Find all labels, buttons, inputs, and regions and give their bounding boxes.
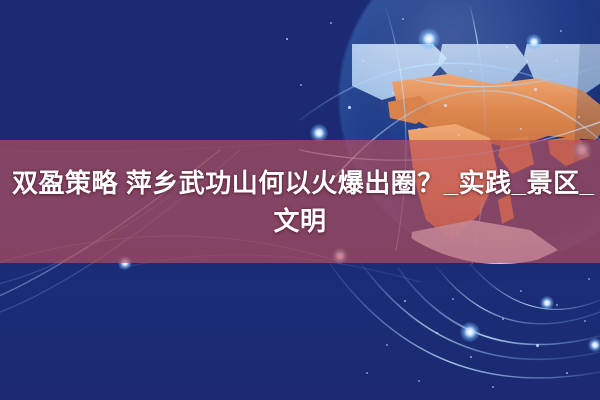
article-banner-image: 双盈策略 萍乡武功山何以火爆出圈？_实践_景区_ 文明	[0, 0, 600, 400]
network-node-glow	[460, 322, 480, 342]
network-node-glow	[588, 338, 600, 352]
network-node-glow	[540, 296, 554, 310]
banner-title-line-1: 双盈策略 萍乡武功山何以火爆出圈？_实践_景区_	[0, 164, 600, 202]
banner-title-line-2: 文明	[273, 202, 326, 240]
network-node-glow	[526, 34, 542, 50]
banner-title: 双盈策略 萍乡武功山何以火爆出圈？_实践_景区_ 文明	[0, 140, 600, 263]
network-node-glow	[418, 28, 440, 50]
